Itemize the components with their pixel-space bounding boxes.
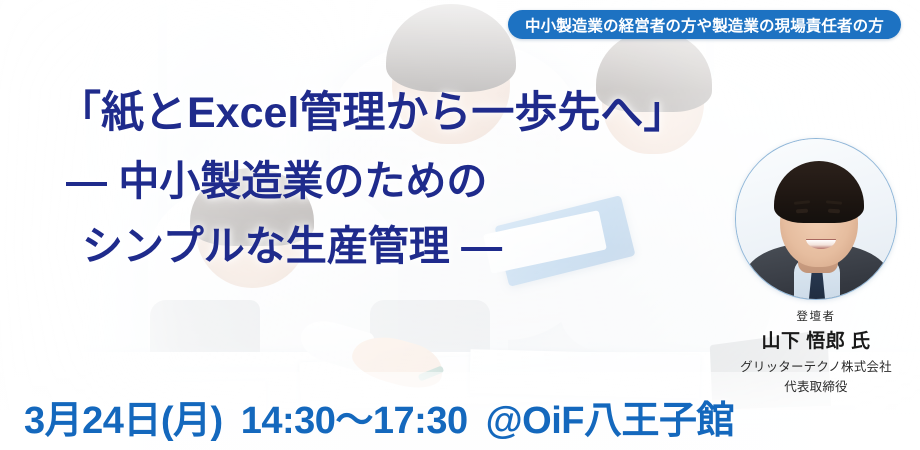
event-date: 3月24日(月): [24, 400, 223, 442]
title-line-2: ― 中小製造業のための: [0, 161, 720, 202]
event-time: 14:30〜17:30: [241, 400, 468, 442]
title-line-1: 「紙とExcel管理から一歩先へ」: [0, 92, 720, 135]
speaker-role-label: 登壇者: [718, 308, 914, 324]
audience-badge: 中小製造業の経営者の方や製造業の現場責任者の方: [508, 10, 901, 39]
speaker-block: 登壇者 山下 悟郎 氏 グリッターテクノ株式会社 代表取締役: [718, 138, 914, 395]
event-venue: @OiF八王子館: [486, 400, 734, 442]
title-line-3: シンプルな生産管理 ―: [0, 226, 720, 267]
portrait-eye: [828, 209, 840, 214]
portrait-eye: [796, 209, 808, 214]
speaker-company: グリッターテクノ株式会社: [718, 356, 914, 375]
event-datetime-bar: 3月24日(月)14:30〜17:30@OiF八王子館: [0, 389, 920, 444]
page-title: 「紙とExcel管理から一歩先へ」 ― 中小製造業のための シンプルな生産管理 …: [0, 92, 720, 267]
speaker-avatar: [735, 138, 897, 300]
speaker-name: 山下 悟郎 氏: [718, 326, 914, 353]
seminar-banner: 中小製造業の経営者の方や製造業の現場責任者の方 「紙とExcel管理から一歩先へ…: [0, 0, 920, 450]
